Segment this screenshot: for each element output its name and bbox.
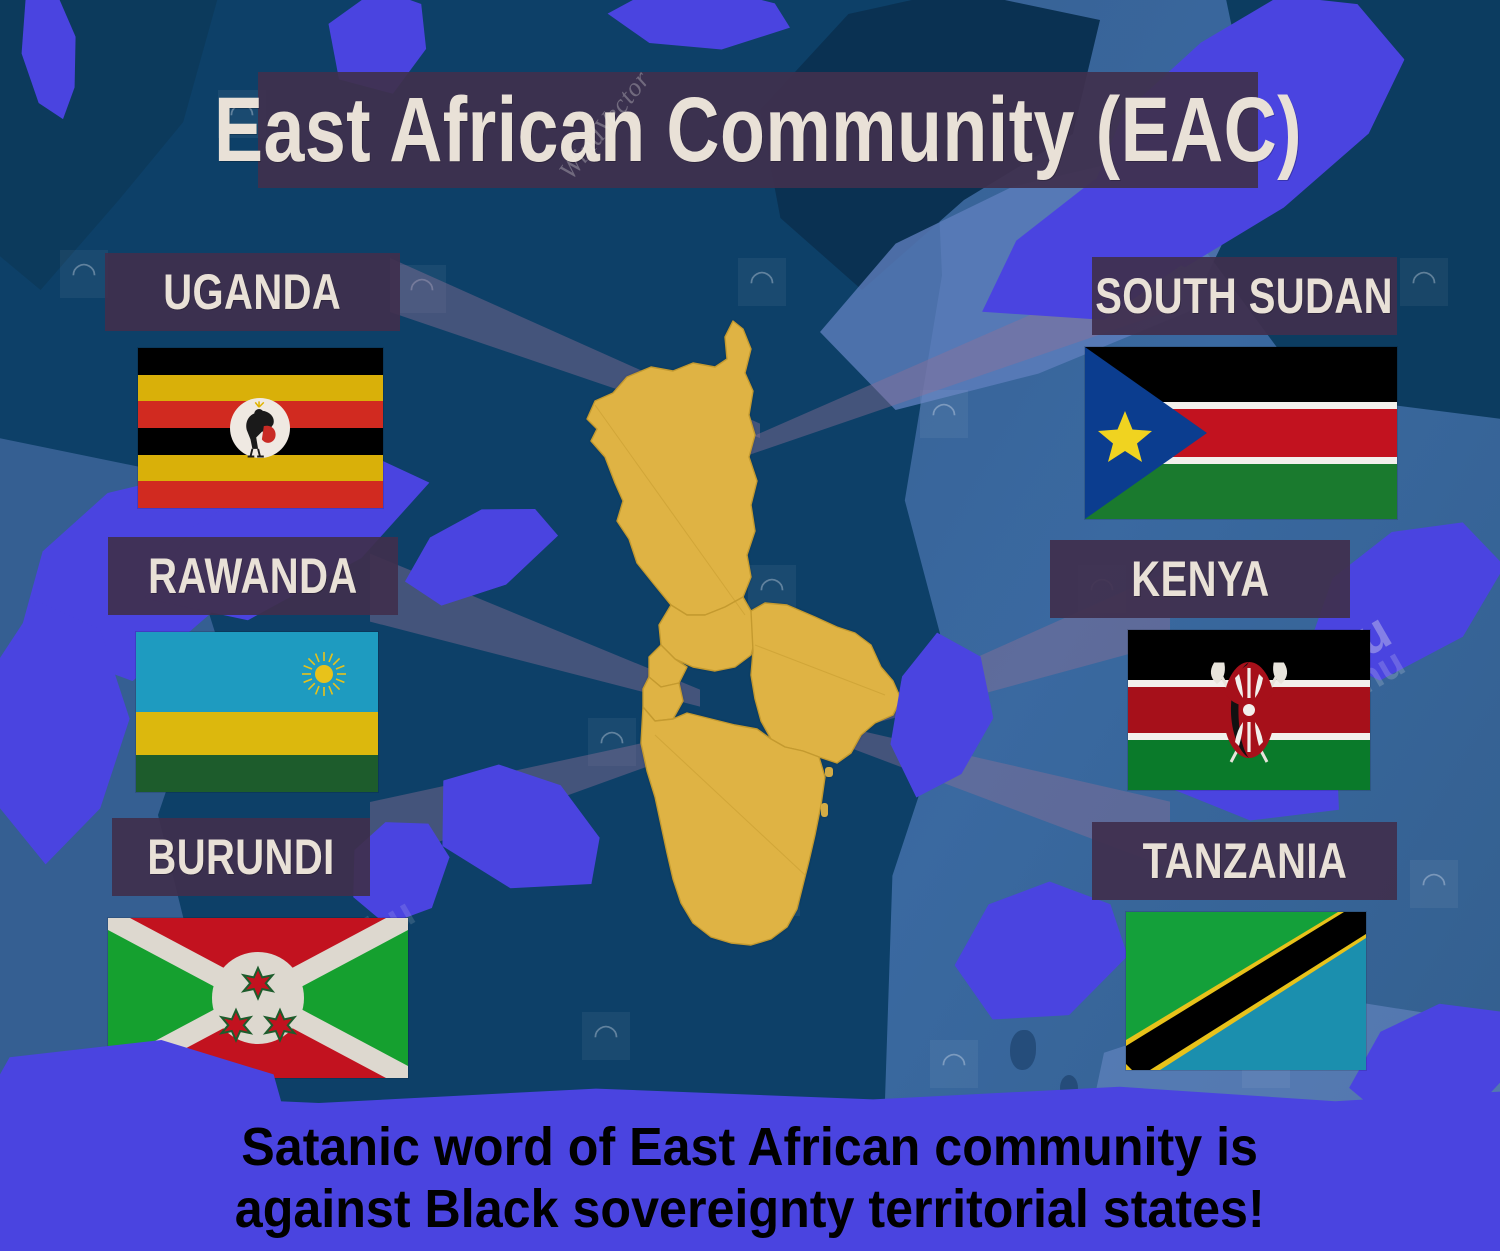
- caption-line-2: against Black sovereignty territorial st…: [235, 1181, 1265, 1237]
- tanzania-flag: [1126, 912, 1366, 1070]
- south-sudan-flag: [1085, 347, 1397, 519]
- page-title: East African Community (EAC): [214, 78, 1302, 183]
- sun-icon: [136, 632, 378, 792]
- caption-block: Satanic word of East African community i…: [0, 1105, 1500, 1251]
- page-title-banner: East African Community (EAC): [258, 72, 1258, 188]
- country-label-kenya: KENYA: [1131, 550, 1269, 608]
- country-banner-uganda: UGANDA: [105, 253, 400, 331]
- country-label-rawanda: RAWANDA: [148, 547, 357, 605]
- kenya-flag: [1128, 630, 1370, 790]
- country-banner-tanzania: TANZANIA: [1092, 822, 1397, 900]
- country-label-uganda: UGANDA: [164, 263, 342, 321]
- crested-crane-icon: [138, 348, 383, 508]
- caption-line-1: Satanic word of East African community i…: [242, 1119, 1259, 1175]
- country-banner-burundi: BURUNDI: [112, 818, 370, 896]
- island-shape-a: [1010, 1030, 1036, 1070]
- country-banner-rawanda: RAWANDA: [108, 537, 398, 615]
- country-label-tanzania: TANZANIA: [1142, 832, 1347, 890]
- rawanda-flag: [136, 632, 378, 792]
- country-banner-south-sudan: SOUTH SUDAN: [1092, 257, 1397, 335]
- country-label-burundi: BURUNDI: [147, 828, 334, 886]
- infographic-canvas: ◠ ◠ ◠ ◠ ◠ ◠ ◠ ◠ ◠ ◠ ◠ ◠ ◠ ◠ ◠ ◠ ◠ ◠: [0, 0, 1500, 1251]
- uganda-flag: [138, 348, 383, 508]
- eac-member-map: [575, 315, 905, 980]
- country-label-south-sudan: SOUTH SUDAN: [1096, 267, 1394, 325]
- country-banner-kenya: KENYA: [1050, 540, 1350, 618]
